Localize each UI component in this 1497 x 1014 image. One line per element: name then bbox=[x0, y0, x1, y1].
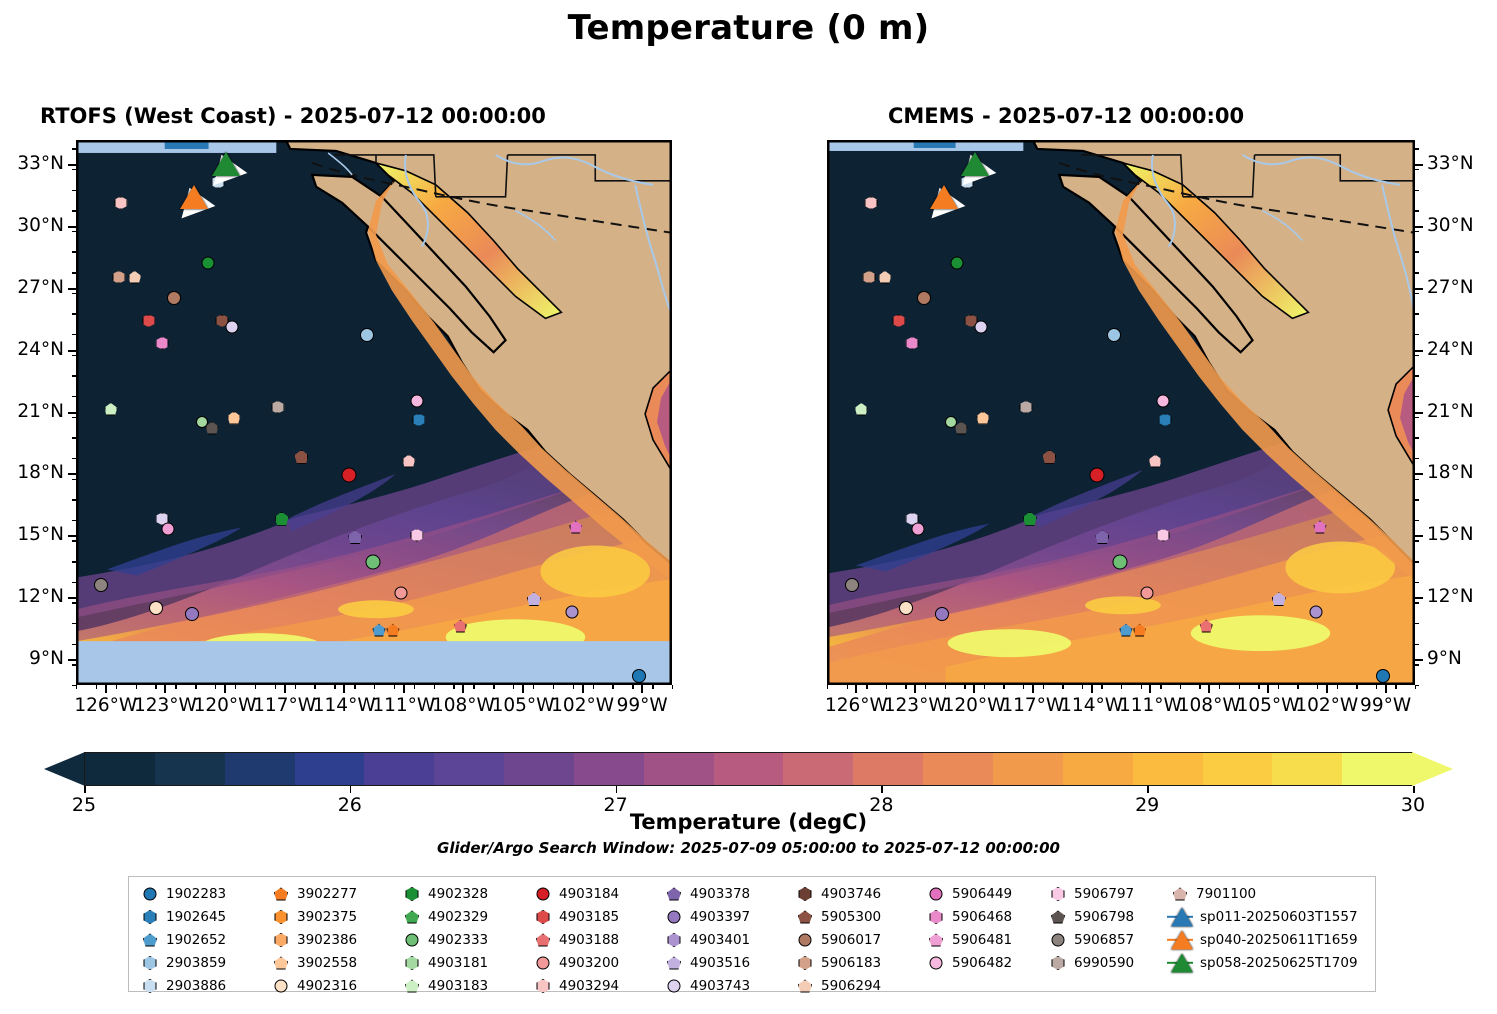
float-marker[interactable] bbox=[892, 314, 905, 327]
legend-item[interactable]: 4903188 bbox=[530, 930, 661, 950]
legend-column: 7901100sp011-20250603T1557sp040-20250611… bbox=[1167, 884, 1357, 991]
lat-minor-tick bbox=[1415, 499, 1419, 500]
float-marker[interactable] bbox=[394, 587, 407, 600]
lon-minor-tick bbox=[155, 685, 156, 689]
lat-tick-label: 15°N bbox=[0, 524, 64, 545]
legend-column: 19022831902645190265229038592903886 bbox=[137, 884, 268, 991]
float-legend-icon bbox=[137, 884, 163, 904]
legend-label: 4903743 bbox=[687, 978, 750, 994]
lon-minor-tick bbox=[632, 685, 633, 689]
float-legend-icon bbox=[792, 953, 818, 973]
float-marker[interactable] bbox=[527, 592, 541, 606]
float-marker[interactable] bbox=[167, 291, 181, 305]
lon-minor-tick bbox=[866, 685, 867, 689]
lat-minor-tick bbox=[72, 313, 76, 314]
legend-label: 1902652 bbox=[163, 932, 226, 948]
lon-tick-label: 105°W bbox=[1237, 695, 1300, 716]
float-marker[interactable] bbox=[863, 271, 876, 284]
float-legend-icon bbox=[399, 930, 425, 950]
float-legend-icon bbox=[1045, 953, 1071, 973]
float-marker[interactable] bbox=[899, 601, 913, 615]
float-legend-icon bbox=[137, 953, 163, 973]
colorbar-band bbox=[853, 753, 923, 785]
lon-minor-tick bbox=[434, 685, 435, 689]
legend-item[interactable]: 5906468 bbox=[923, 907, 1045, 927]
glider-marker[interactable] bbox=[961, 152, 989, 176]
legend-item[interactable]: 5906481 bbox=[923, 930, 1045, 950]
legend-item[interactable]: 6990590 bbox=[1045, 953, 1167, 973]
legend-label: 5906183 bbox=[818, 955, 881, 971]
legend-item[interactable]: 4903183 bbox=[399, 976, 530, 996]
float-marker[interactable] bbox=[275, 512, 289, 526]
lat-minor-tick bbox=[1415, 540, 1419, 541]
colorbar-band bbox=[1203, 753, 1273, 785]
lon-minor-tick bbox=[175, 685, 176, 689]
float-marker-icon bbox=[798, 980, 812, 993]
colorbar-band bbox=[993, 753, 1063, 785]
float-marker[interactable] bbox=[845, 578, 859, 592]
float-marker[interactable] bbox=[1095, 530, 1109, 544]
lat-minor-tick bbox=[1415, 417, 1419, 418]
legend-label: 4902329 bbox=[425, 909, 488, 925]
float-marker[interactable] bbox=[1200, 620, 1213, 633]
lon-tick bbox=[1385, 685, 1387, 693]
float-marker-icon bbox=[799, 887, 812, 901]
float-marker[interactable] bbox=[1376, 669, 1390, 683]
legend-item[interactable]: 4903185 bbox=[530, 907, 661, 927]
glider-marker[interactable] bbox=[180, 185, 208, 209]
lat-minor-tick bbox=[1415, 561, 1419, 562]
lat-minor-tick bbox=[1415, 210, 1419, 211]
float-marker-layer-left bbox=[77, 141, 671, 684]
float-marker[interactable] bbox=[112, 271, 125, 284]
lat-minor-tick bbox=[72, 169, 76, 170]
legend-item[interactable]: 5906482 bbox=[923, 953, 1045, 973]
float-marker[interactable] bbox=[386, 624, 399, 637]
lat-minor-tick bbox=[72, 251, 76, 252]
colorbar-band bbox=[85, 753, 155, 785]
lat-minor-tick bbox=[1415, 272, 1419, 273]
colorbar-band bbox=[644, 753, 714, 785]
float-marker[interactable] bbox=[1141, 587, 1154, 600]
legend-item[interactable]: 4903378 bbox=[661, 884, 792, 904]
legend-label: 1902645 bbox=[163, 909, 226, 925]
float-marker[interactable] bbox=[632, 669, 646, 683]
float-marker[interactable] bbox=[912, 523, 925, 536]
lat-minor-tick bbox=[1415, 355, 1419, 356]
float-marker[interactable] bbox=[1023, 512, 1037, 526]
float-marker-icon bbox=[930, 888, 943, 901]
lat-minor-tick bbox=[72, 437, 76, 438]
lon-minor-tick bbox=[414, 685, 415, 689]
float-marker[interactable] bbox=[565, 605, 578, 618]
legend-label: 5906481 bbox=[949, 932, 1012, 948]
float-marker[interactable] bbox=[865, 196, 878, 209]
float-marker-icon bbox=[929, 934, 943, 947]
glider-triangle-icon bbox=[1171, 908, 1193, 927]
lat-minor-tick bbox=[1415, 479, 1419, 480]
float-legend-icon bbox=[530, 884, 556, 904]
float-marker[interactable] bbox=[342, 468, 357, 483]
lat-minor-tick bbox=[1415, 313, 1419, 314]
lat-minor-tick bbox=[72, 375, 76, 376]
lon-minor-tick bbox=[1258, 685, 1259, 689]
lat-tick-label: 24°N bbox=[1427, 339, 1474, 360]
lon-minor-tick bbox=[473, 685, 474, 689]
float-marker[interactable] bbox=[366, 555, 381, 570]
float-marker[interactable] bbox=[410, 529, 423, 542]
lon-tick bbox=[1032, 685, 1034, 693]
lat-tick bbox=[1415, 164, 1423, 166]
lon-minor-tick bbox=[1043, 685, 1044, 689]
float-legend-icon bbox=[1045, 930, 1071, 950]
float-marker[interactable] bbox=[149, 601, 163, 615]
lat-minor-tick bbox=[72, 582, 76, 583]
lon-minor-tick bbox=[275, 685, 276, 689]
legend-item[interactable]: sp011-20250603T1557 bbox=[1167, 907, 1357, 927]
lat-minor-tick bbox=[72, 499, 76, 500]
lat-tick-label: 33°N bbox=[0, 153, 64, 174]
float-marker[interactable] bbox=[294, 450, 308, 464]
lat-tick-label: 9°N bbox=[0, 648, 64, 669]
legend-item[interactable]: 2903886 bbox=[137, 976, 268, 996]
legend-label: 4903181 bbox=[425, 955, 488, 971]
lat-minor-tick bbox=[72, 685, 76, 686]
float-marker[interactable] bbox=[1149, 454, 1162, 467]
float-marker[interactable] bbox=[360, 328, 374, 342]
colorbar-band bbox=[1342, 753, 1412, 785]
float-marker[interactable] bbox=[1019, 401, 1032, 414]
float-marker[interactable] bbox=[1042, 450, 1056, 464]
float-marker-icon bbox=[406, 887, 419, 901]
lon-tick bbox=[1326, 685, 1328, 693]
lon-tick bbox=[582, 685, 584, 693]
float-marker-icon bbox=[144, 956, 157, 970]
lon-tick bbox=[522, 685, 524, 693]
float-legend[interactable]: 1902283190264519026522903859290388639022… bbox=[128, 876, 1376, 992]
lat-tick bbox=[68, 535, 76, 537]
legend-item[interactable]: 5906449 bbox=[923, 884, 1045, 904]
lon-minor-tick bbox=[1062, 685, 1063, 689]
lon-minor-tick bbox=[886, 685, 887, 689]
lat-minor-tick bbox=[72, 417, 76, 418]
lat-tick bbox=[68, 350, 76, 352]
lat-minor-tick bbox=[1415, 375, 1419, 376]
lon-minor-tick bbox=[1023, 685, 1024, 689]
legend-label: 5906449 bbox=[949, 886, 1012, 902]
lon-minor-tick bbox=[964, 685, 965, 689]
lat-tick bbox=[68, 164, 76, 166]
float-marker[interactable] bbox=[227, 411, 240, 424]
legend-label: 5906798 bbox=[1071, 909, 1134, 925]
float-marker[interactable] bbox=[402, 454, 415, 467]
float-marker[interactable] bbox=[569, 521, 582, 534]
lon-tick-label: 99°W bbox=[617, 695, 668, 716]
float-marker[interactable] bbox=[410, 395, 423, 408]
float-legend-icon bbox=[268, 930, 294, 950]
lon-tick bbox=[105, 685, 107, 693]
float-marker[interactable] bbox=[142, 314, 155, 327]
legend-item[interactable]: 5906797 bbox=[1045, 884, 1167, 904]
float-legend-icon bbox=[137, 907, 163, 927]
float-marker[interactable] bbox=[162, 523, 175, 536]
legend-column: 49023284902329490233349031814903183 bbox=[399, 884, 530, 991]
lat-tick-label: 12°N bbox=[0, 586, 64, 607]
float-marker[interactable] bbox=[1107, 328, 1121, 342]
legend-item[interactable]: 4902329 bbox=[399, 907, 530, 927]
float-marker[interactable] bbox=[1113, 555, 1128, 570]
legend-item[interactable]: 4903200 bbox=[530, 953, 661, 973]
legend-item[interactable]: 5906017 bbox=[792, 930, 923, 950]
float-marker[interactable] bbox=[412, 413, 425, 426]
float-marker-icon bbox=[667, 888, 681, 901]
float-marker[interactable] bbox=[1159, 413, 1172, 426]
float-marker[interactable] bbox=[185, 607, 199, 621]
float-marker[interactable] bbox=[104, 403, 117, 416]
float-marker-icon bbox=[406, 934, 419, 947]
legend-item[interactable]: 4903181 bbox=[399, 953, 530, 973]
lon-minor-tick bbox=[1082, 685, 1083, 689]
legend-item[interactable]: 4902328 bbox=[399, 884, 530, 904]
float-marker[interactable] bbox=[202, 256, 215, 269]
float-marker[interactable] bbox=[372, 624, 385, 637]
lon-minor-tick bbox=[652, 685, 653, 689]
legend-item[interactable]: 7901100 bbox=[1167, 884, 1357, 904]
lon-tick-label: 114°W bbox=[1060, 695, 1123, 716]
lat-tick bbox=[68, 597, 76, 599]
float-legend-icon bbox=[1045, 907, 1071, 927]
legend-item[interactable]: 3902386 bbox=[268, 930, 399, 950]
float-marker[interactable] bbox=[1089, 468, 1104, 483]
lon-tick-label: 114°W bbox=[313, 695, 376, 716]
legend-item[interactable]: 1902645 bbox=[137, 907, 268, 927]
legend-item[interactable]: 5906183 bbox=[792, 953, 923, 973]
float-legend-icon bbox=[137, 930, 163, 950]
float-marker-icon bbox=[536, 934, 550, 947]
lat-tick-label: 30°N bbox=[0, 215, 64, 236]
lat-minor-tick bbox=[72, 664, 76, 665]
legend-item[interactable]: 2903859 bbox=[137, 953, 268, 973]
lat-minor-tick bbox=[1415, 685, 1419, 686]
legend-label: 5906017 bbox=[818, 932, 881, 948]
lon-tick-label: 126°W bbox=[825, 695, 888, 716]
lon-tick-label: 111°W bbox=[1119, 695, 1182, 716]
legend-item[interactable]: 3902558 bbox=[268, 953, 399, 973]
lon-minor-tick bbox=[453, 685, 454, 689]
float-marker-icon bbox=[144, 910, 157, 924]
lon-minor-tick bbox=[1239, 685, 1240, 689]
legend-item[interactable]: sp040-20250611T1659 bbox=[1167, 930, 1357, 950]
lon-minor-tick bbox=[1141, 685, 1142, 689]
legend-item[interactable]: 4903184 bbox=[530, 884, 661, 904]
map-panel-cmems[interactable] bbox=[827, 140, 1415, 685]
float-marker[interactable] bbox=[271, 401, 284, 414]
colorbar[interactable]: 252627282930 bbox=[44, 752, 1453, 786]
colorbar-band bbox=[295, 753, 365, 785]
lon-minor-tick bbox=[1376, 685, 1377, 689]
lat-tick bbox=[1415, 473, 1423, 475]
lon-minor-tick bbox=[945, 685, 946, 689]
float-marker[interactable] bbox=[348, 530, 362, 544]
lon-minor-tick bbox=[334, 685, 335, 689]
lat-minor-tick bbox=[1415, 293, 1419, 294]
float-marker[interactable] bbox=[917, 291, 931, 305]
legend-label: 7901100 bbox=[1193, 886, 1256, 902]
search-window-note: Glider/Argo Search Window: 2025-07-09 05… bbox=[0, 839, 1497, 857]
legend-item[interactable]: 5906857 bbox=[1045, 930, 1167, 950]
lat-minor-tick bbox=[1415, 437, 1419, 438]
lon-tick bbox=[343, 685, 345, 693]
float-marker[interactable] bbox=[1313, 521, 1326, 534]
legend-label: 4903184 bbox=[556, 886, 619, 902]
legend-item[interactable]: 4903401 bbox=[661, 930, 792, 950]
float-marker[interactable] bbox=[225, 320, 238, 333]
lon-minor-tick bbox=[1003, 685, 1004, 689]
legend-label: 5906857 bbox=[1071, 932, 1134, 948]
float-marker[interactable] bbox=[156, 337, 169, 350]
glider-legend-icon bbox=[1167, 950, 1197, 976]
float-legend-icon bbox=[399, 976, 425, 996]
float-marker[interactable] bbox=[974, 320, 987, 333]
legend-label: 5906797 bbox=[1071, 886, 1134, 902]
float-marker-icon bbox=[1052, 887, 1065, 901]
lat-minor-tick bbox=[72, 210, 76, 211]
float-marker[interactable] bbox=[1310, 605, 1323, 618]
float-marker[interactable] bbox=[1133, 624, 1146, 637]
float-marker[interactable] bbox=[906, 337, 919, 350]
legend-item[interactable]: 4902333 bbox=[399, 930, 530, 950]
lon-minor-tick bbox=[1395, 685, 1396, 689]
float-marker-icon bbox=[668, 980, 681, 993]
colorbar-band bbox=[1133, 753, 1203, 785]
colorbar-band bbox=[504, 753, 574, 785]
float-marker-layer-right bbox=[828, 141, 1414, 684]
float-legend-icon bbox=[399, 884, 425, 904]
legend-label: sp040-20250611T1659 bbox=[1197, 932, 1358, 948]
lon-tick bbox=[1149, 685, 1151, 693]
lat-minor-tick bbox=[72, 334, 76, 335]
map-panel-rtofs[interactable] bbox=[76, 140, 672, 685]
lat-minor-tick bbox=[72, 458, 76, 459]
lat-tick-label: 33°N bbox=[1427, 153, 1474, 174]
float-marker-icon bbox=[143, 934, 157, 947]
float-legend-icon bbox=[923, 884, 949, 904]
float-marker[interactable] bbox=[878, 271, 891, 284]
float-legend-icon bbox=[530, 907, 556, 927]
glider-triangle-icon bbox=[1171, 954, 1193, 973]
lon-minor-tick bbox=[513, 685, 514, 689]
glider-marker[interactable] bbox=[930, 185, 958, 209]
legend-item[interactable]: 5906798 bbox=[1045, 907, 1167, 927]
legend-item[interactable]: 4903397 bbox=[661, 907, 792, 927]
lat-minor-tick bbox=[1415, 520, 1419, 521]
lon-minor-tick bbox=[593, 685, 594, 689]
lat-tick bbox=[1415, 597, 1423, 599]
lat-minor-tick bbox=[1415, 396, 1419, 397]
lon-tick-label: 120°W bbox=[194, 695, 257, 716]
float-marker[interactable] bbox=[855, 403, 868, 416]
legend-item[interactable]: 1902283 bbox=[137, 884, 268, 904]
float-legend-icon bbox=[1167, 884, 1193, 904]
lon-minor-tick bbox=[1337, 685, 1338, 689]
float-marker[interactable] bbox=[114, 196, 127, 209]
legend-item[interactable]: 4903743 bbox=[661, 976, 792, 996]
colorbar-band bbox=[364, 753, 434, 785]
legend-item[interactable]: 1902652 bbox=[137, 930, 268, 950]
lon-minor-tick bbox=[533, 685, 534, 689]
float-marker-icon bbox=[1051, 911, 1065, 924]
float-marker[interactable] bbox=[1119, 624, 1132, 637]
float-marker[interactable] bbox=[935, 607, 949, 621]
lat-tick bbox=[1415, 288, 1423, 290]
lat-tick bbox=[68, 659, 76, 661]
float-marker-icon bbox=[275, 980, 288, 993]
float-marker[interactable] bbox=[951, 256, 964, 269]
float-marker[interactable] bbox=[128, 271, 141, 284]
lat-minor-tick bbox=[72, 190, 76, 191]
lon-tick bbox=[1267, 685, 1269, 693]
legend-item[interactable]: 4903516 bbox=[661, 953, 792, 973]
lon-tick bbox=[224, 685, 226, 693]
float-marker[interactable] bbox=[976, 411, 989, 424]
lon-minor-tick bbox=[96, 685, 97, 689]
colorbar-tick bbox=[616, 786, 618, 793]
lon-minor-tick bbox=[394, 685, 395, 689]
legend-item[interactable]: 5906294 bbox=[792, 976, 923, 996]
float-marker[interactable] bbox=[1157, 395, 1170, 408]
float-marker-icon bbox=[1052, 934, 1065, 947]
lon-minor-tick bbox=[374, 685, 375, 689]
float-legend-icon bbox=[268, 907, 294, 927]
legend-item[interactable]: sp058-20250625T1709 bbox=[1167, 953, 1357, 973]
float-marker[interactable] bbox=[1157, 529, 1170, 542]
lat-minor-tick bbox=[72, 479, 76, 480]
float-marker-icon bbox=[930, 910, 943, 924]
lon-minor-tick bbox=[314, 685, 315, 689]
legend-item[interactable]: 3902277 bbox=[268, 884, 399, 904]
lat-tick bbox=[1415, 350, 1423, 352]
float-marker-icon bbox=[537, 910, 550, 924]
lat-minor-tick bbox=[72, 540, 76, 541]
lon-minor-tick bbox=[493, 685, 494, 689]
float-marker-icon bbox=[406, 956, 419, 970]
lon-minor-tick bbox=[195, 685, 196, 689]
legend-item[interactable]: 4903294 bbox=[530, 976, 661, 996]
legend-label: 3902277 bbox=[294, 886, 357, 902]
glider-marker[interactable] bbox=[212, 152, 240, 176]
legend-item[interactable]: 4903746 bbox=[792, 884, 923, 904]
legend-item[interactable]: 3902375 bbox=[268, 907, 399, 927]
colorbar-tick bbox=[1147, 786, 1149, 793]
lat-tick bbox=[1415, 412, 1423, 414]
colorbar-tick bbox=[350, 786, 352, 793]
float-marker[interactable] bbox=[1272, 592, 1286, 606]
legend-label: 5906294 bbox=[818, 978, 881, 994]
left-panel-title: RTOFS (West Coast) - 2025-07-12 00:00:00 bbox=[40, 104, 546, 128]
legend-label: 4903401 bbox=[687, 932, 750, 948]
lat-minor-tick bbox=[72, 644, 76, 645]
float-marker[interactable] bbox=[94, 578, 108, 592]
float-legend-icon bbox=[661, 884, 687, 904]
legend-item[interactable]: 5905300 bbox=[792, 907, 923, 927]
legend-label: 2903886 bbox=[163, 978, 226, 994]
colorbar-gradient bbox=[84, 752, 1413, 786]
legend-item[interactable]: 4902316 bbox=[268, 976, 399, 996]
float-marker[interactable] bbox=[454, 620, 467, 633]
colorbar-band bbox=[225, 753, 295, 785]
legend-label: 6990590 bbox=[1071, 955, 1134, 971]
float-marker-icon bbox=[275, 933, 288, 947]
